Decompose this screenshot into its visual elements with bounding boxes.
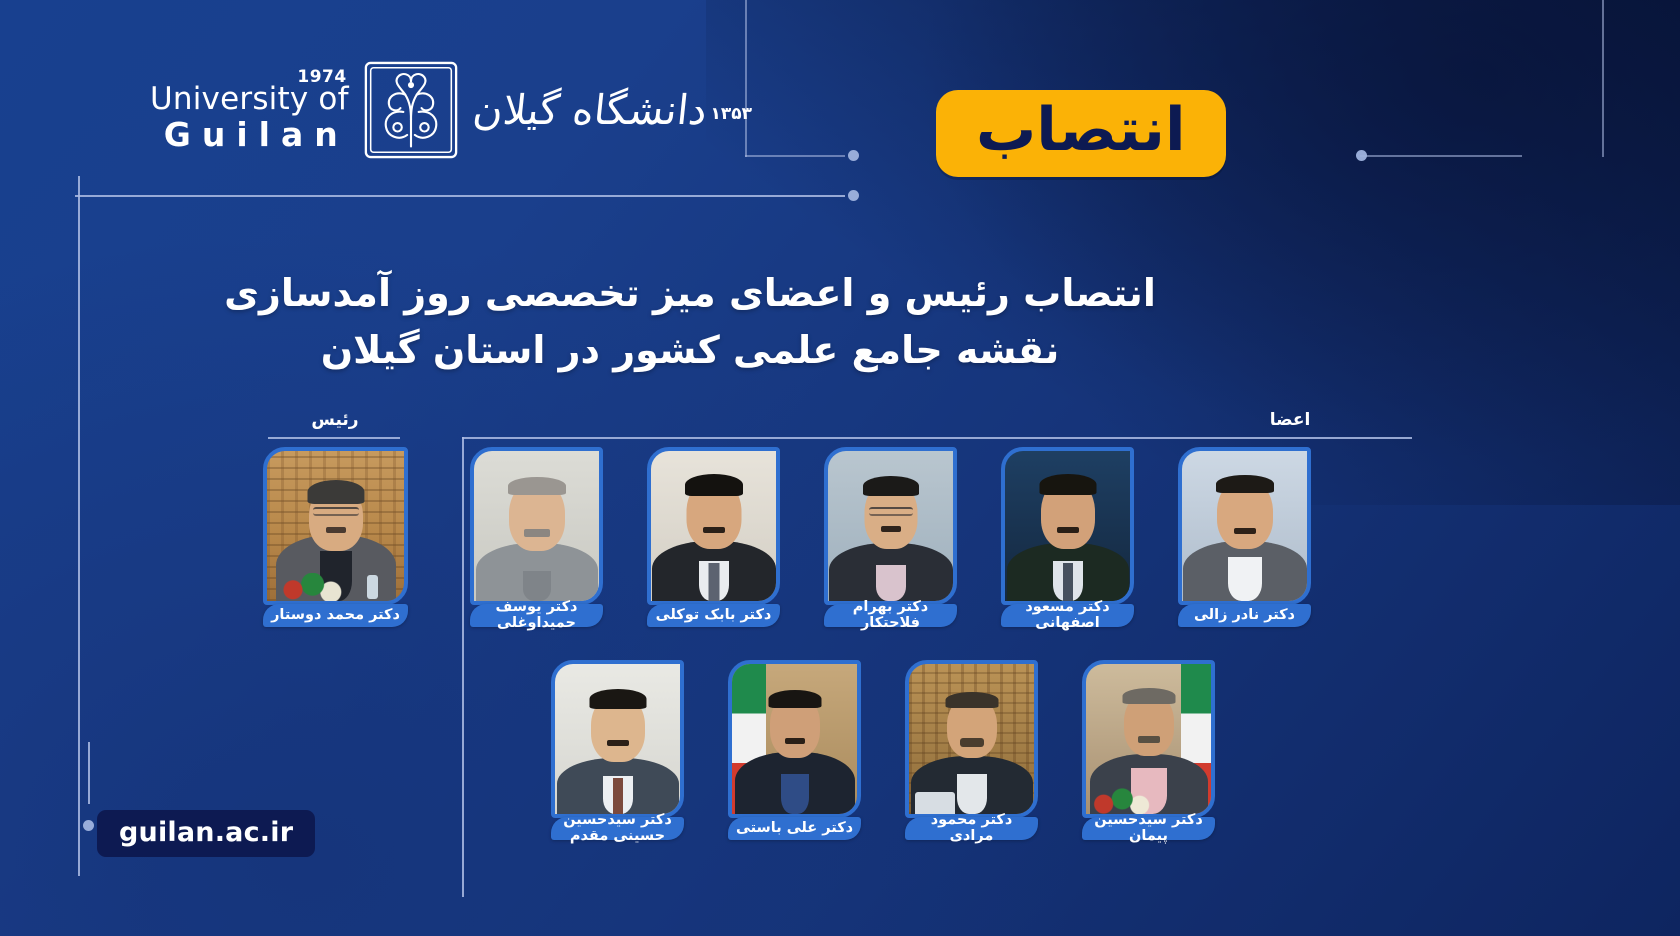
member-6-name-chip: دکتر سیدحسین حسینی مقدم [551, 817, 684, 840]
person-card-member-6[interactable] [551, 660, 684, 818]
guilan-peacock-emblem-icon [363, 60, 459, 160]
person-card-member-3[interactable] [824, 447, 957, 605]
members-bracket-stem [462, 437, 464, 897]
deco-dot-upper-bracket [848, 150, 859, 161]
member-2-photo [651, 451, 776, 601]
member-1-photo [474, 451, 599, 601]
person-card-chair[interactable] [263, 447, 408, 605]
deco-dot-top-left [848, 190, 859, 201]
member-8-name: دکتر محمود مرادی [911, 813, 1032, 845]
logo-line-university-of: University of [150, 84, 349, 115]
member-2-name-chip: دکتر بابک توکلی [647, 604, 780, 627]
member-5-name-chip: دکتر نادر زالی [1178, 604, 1311, 627]
logo-founding-year-fa: ۱۳۵۳ [710, 104, 752, 124]
logo-university-name-fa: دانشگاه گیلان [471, 90, 709, 131]
chair-bracket-line [268, 437, 400, 439]
person-card-member-5[interactable] [1178, 447, 1311, 605]
headline-line-1: انتصاب رئیس و اعضای میز تخصصی روز آمدساز… [0, 265, 1380, 322]
page-title: انتصاب رئیس و اعضای میز تخصصی روز آمدساز… [0, 265, 1680, 379]
site-badge-dot [83, 820, 94, 831]
group-label-members: اعضا [1210, 410, 1370, 430]
person-card-member-1[interactable] [470, 447, 603, 605]
member-3-name-chip: دکتر بهرام فلاحتکار [824, 604, 957, 627]
member-5-name: دکتر نادر زالی [1194, 608, 1295, 624]
member-3-name: دکتر بهرام فلاحتکار [830, 600, 951, 632]
member-3-photo [828, 451, 953, 601]
chair-photo [267, 451, 404, 601]
members-bracket-line [462, 437, 1412, 439]
member-1-name: دکتر یوسف حمیداوغلی [476, 600, 597, 632]
announcement-type-label: انتصاب [976, 99, 1186, 162]
headline-line-2: نقشه جامع علمی کشور در استان گیلان [0, 322, 1380, 379]
member-8-name-chip: دکتر محمود مرادی [905, 817, 1038, 840]
member-4-name: دکتر مسعود اصفهانی [1007, 600, 1128, 632]
website-url: guilan.ac.ir [119, 817, 293, 848]
member-1-name-chip: دکتر یوسف حمیداوغلی [470, 604, 603, 627]
person-card-member-9[interactable] [1082, 660, 1215, 818]
deco-line-top-horizontal [75, 195, 845, 197]
member-4-name-chip: دکتر مسعود اصفهانی [1001, 604, 1134, 627]
logo-persian-text: ۱۳۵۳ دانشگاه گیلان [473, 90, 752, 131]
member-9-name: دکتر سیدحسین پیمان [1088, 813, 1209, 845]
logo-line-guilan: Guilan [150, 118, 349, 151]
chair-name-chip: دکتر محمد دوستار [263, 604, 408, 627]
member-6-name: دکتر سیدحسین حسینی مقدم [557, 813, 678, 845]
person-card-member-2[interactable] [647, 447, 780, 605]
member-2-name: دکتر بابک توکلی [656, 608, 772, 624]
deco-line-right-vertical [1602, 0, 1604, 157]
member-9-name-chip: دکتر سیدحسین پیمان [1082, 817, 1215, 840]
site-badge-stem-line [88, 742, 90, 804]
member-5-photo [1182, 451, 1307, 601]
deco-line-upper-bracket-horizontal [745, 155, 845, 157]
deco-line-right-horizontal [1360, 155, 1522, 157]
member-9-photo [1086, 664, 1211, 814]
poster-canvas: 1974 University of Guilan ۱۳۵۳ دانشگاه گ… [0, 0, 1680, 936]
deco-dot-right [1356, 150, 1367, 161]
member-7-photo [732, 664, 857, 814]
logo-english-text: 1974 University of Guilan [150, 69, 349, 151]
person-card-member-4[interactable] [1001, 447, 1134, 605]
announcement-type-badge: انتصاب [936, 90, 1226, 177]
member-7-name-chip: دکتر علی باستی [728, 817, 861, 840]
group-label-chair: رئیس [255, 410, 415, 430]
website-badge[interactable]: guilan.ac.ir [97, 810, 315, 857]
member-4-photo [1005, 451, 1130, 601]
member-8-photo [909, 664, 1034, 814]
person-card-member-8[interactable] [905, 660, 1038, 818]
chair-name: دکتر محمد دوستار [271, 608, 400, 624]
member-6-photo [555, 664, 680, 814]
person-card-member-7[interactable] [728, 660, 861, 818]
university-logo: 1974 University of Guilan ۱۳۵۳ دانشگاه گ… [150, 60, 752, 160]
member-7-name: دکتر علی باستی [736, 821, 853, 837]
